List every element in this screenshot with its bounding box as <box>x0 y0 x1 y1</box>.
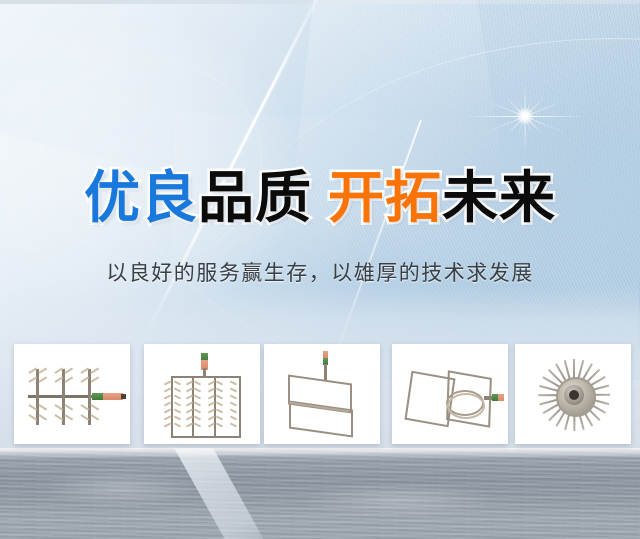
rack-prong <box>38 367 47 373</box>
ground-highlight <box>40 468 200 508</box>
plating-rack-dense-bristle-frame-icon <box>148 348 256 440</box>
promo-banner: 优良品质开拓未来 以良好的服务赢生存，以雄厚的技术求发展 <box>0 0 640 539</box>
plating-rack-tray-with-ring-icon <box>396 348 504 440</box>
plating-rack-radial-starburst-icon <box>519 348 627 440</box>
rack-prong <box>164 394 171 399</box>
tray-coil-ring <box>447 393 485 419</box>
headline-segment-blue: 优良 <box>84 166 198 231</box>
rack-prong <box>38 404 47 410</box>
rack-prong <box>164 422 171 427</box>
headline-segment-black-2: 未来 <box>442 166 556 231</box>
rack-prong <box>38 414 47 420</box>
rack-prong <box>38 376 47 382</box>
hub-bore <box>569 390 579 400</box>
rack-prong <box>164 401 171 406</box>
page-title: 优良品质开拓未来 <box>0 168 640 230</box>
ground-surface <box>0 448 640 539</box>
product-card[interactable] <box>144 344 260 444</box>
rack-prong <box>90 404 99 410</box>
rack-column <box>192 376 194 436</box>
page-subtitle: 以良好的服务赢生存，以雄厚的技术求发展 <box>0 258 640 288</box>
rack-prong <box>64 376 73 382</box>
rack-frame <box>171 376 241 438</box>
rack-prong <box>164 380 171 385</box>
rack-handle-orange <box>498 394 504 401</box>
plating-rack-horizontal-comb-icon <box>18 348 126 440</box>
rack-prong <box>90 414 99 420</box>
product-card-strip <box>0 344 640 446</box>
plating-rack-tilted-double-frame-icon <box>268 348 376 440</box>
product-card[interactable] <box>264 344 380 444</box>
rack-prong <box>90 376 99 382</box>
product-card[interactable] <box>392 344 508 444</box>
rack-prong <box>90 367 99 373</box>
starburst-group <box>539 360 609 430</box>
product-card[interactable] <box>515 344 631 444</box>
rack-handle-tip <box>121 394 126 399</box>
rack-prong <box>64 404 73 410</box>
rack-prong <box>64 367 73 373</box>
product-card[interactable] <box>14 344 130 444</box>
rack-stem <box>324 364 327 380</box>
rack-prong <box>164 387 171 392</box>
headline-segment-orange: 开拓 <box>328 166 442 231</box>
headline-segment-black-1: 品质 <box>198 166 312 231</box>
ground-edge-glow <box>0 448 640 458</box>
rack-column <box>214 376 216 436</box>
rack-prong <box>64 414 73 420</box>
rack-prong <box>164 415 171 420</box>
rack-prong <box>164 408 171 413</box>
ground-highlight <box>300 482 500 518</box>
rack-handle-orange <box>103 393 123 400</box>
